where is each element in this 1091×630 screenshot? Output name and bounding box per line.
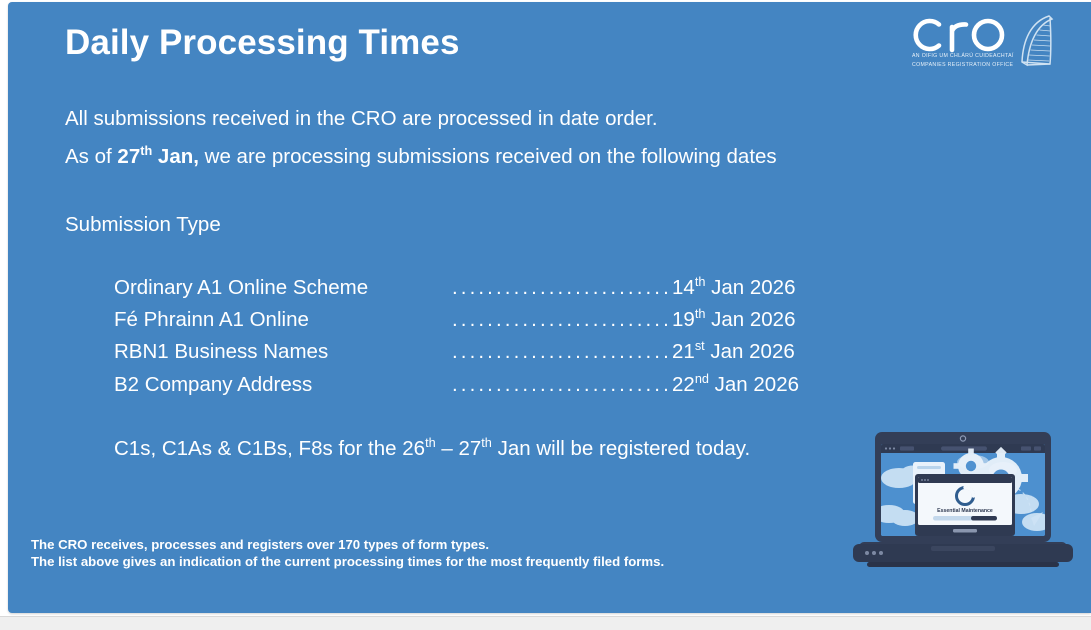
row-leader-dots: ...................................	[452, 373, 672, 397]
svg-text:Essential Maintenance: Essential Maintenance	[937, 508, 993, 514]
laptop-icon: Essential Maintenance	[853, 426, 1073, 574]
harp-icon	[1017, 12, 1059, 70]
bottom-strip	[0, 616, 1091, 630]
row-leader-dots: ...................................	[452, 308, 672, 332]
row-date-rest: Jan 2026	[705, 340, 795, 363]
registered-today-note: C1s, C1As & C1Bs, F8s for the 26th – 27t…	[114, 437, 750, 461]
row-leader-dots: ...................................	[452, 340, 672, 364]
note-to-ordinal: th	[481, 435, 492, 450]
laptop-maintenance-illustration: Essential Maintenance	[853, 426, 1073, 574]
row-date-day: 14	[672, 276, 695, 299]
row-date-ordinal: nd	[695, 371, 709, 386]
row-submission-type: RBN1 Business Names	[114, 340, 452, 364]
note-dash: –	[436, 437, 459, 460]
row-date-rest: Jan 2026	[709, 373, 799, 396]
row-date: 19th Jan 2026	[672, 308, 795, 332]
note-to-day: 27	[458, 437, 481, 460]
footer-line-2: The list above gives an indication of th…	[31, 554, 664, 571]
table-row: Ordinary A1 Online Scheme ..............…	[114, 276, 904, 308]
row-date-ordinal: th	[695, 306, 706, 321]
intro-line-2: As of 27th Jan, we are processing submis…	[65, 138, 777, 176]
logo-subtitle-english: COMPANIES REGISTRATION OFFICE	[912, 61, 1022, 70]
intro-asof-month: Jan,	[152, 145, 199, 168]
row-date-ordinal: th	[695, 274, 706, 289]
note-from-day: 26	[402, 437, 425, 460]
row-date-day: 19	[672, 308, 695, 331]
intro-asof-date: 27th Jan,	[117, 145, 199, 168]
submission-type-heading: Submission Type	[65, 213, 221, 237]
note-from-ordinal: th	[425, 435, 436, 450]
intro-block: All submissions received in the CRO are …	[65, 100, 777, 176]
page-title: Daily Processing Times	[65, 23, 460, 63]
footer-line-1: The CRO receives, processes and register…	[31, 537, 664, 554]
slide-panel: Daily Processing Times	[8, 2, 1091, 613]
footer-note: The CRO receives, processes and register…	[31, 537, 664, 570]
row-date-day: 22	[672, 373, 695, 396]
logo-subtitle-irish: AN OIFIG UM CHLÁRÚ CUIDEACHTAÍ	[912, 52, 1022, 61]
intro-line-1: All submissions received in the CRO are …	[65, 100, 777, 138]
note-suffix: Jan will be registered today.	[492, 437, 750, 460]
row-date: 21st Jan 2026	[672, 340, 795, 364]
row-date: 22nd Jan 2026	[672, 373, 799, 397]
table-row: B2 Company Address .....................…	[114, 373, 904, 405]
intro-suffix: we are processing submissions received o…	[199, 145, 777, 168]
row-date: 14th Jan 2026	[672, 276, 795, 300]
row-submission-type: B2 Company Address	[114, 373, 452, 397]
cro-logo: AN OIFIG UM CHLÁRÚ CUIDEACHTAÍ COMPANIES…	[909, 12, 1059, 74]
page-root: Daily Processing Times	[0, 0, 1091, 629]
row-date-ordinal: st	[695, 339, 705, 354]
intro-prefix: As of	[65, 145, 117, 168]
table-row: Fé Phrainn A1 Online ...................…	[114, 308, 904, 340]
row-date-rest: Jan 2026	[705, 308, 795, 331]
intro-asof-day: 27	[117, 145, 140, 168]
row-leader-dots: ...................................	[452, 276, 672, 300]
note-prefix: C1s, C1As & C1Bs, F8s for the	[114, 437, 402, 460]
processing-times-table: Ordinary A1 Online Scheme ..............…	[114, 276, 904, 405]
row-submission-type: Ordinary A1 Online Scheme	[114, 276, 452, 300]
table-row: RBN1 Business Names ....................…	[114, 340, 904, 372]
logo-subtitle: AN OIFIG UM CHLÁRÚ CUIDEACHTAÍ COMPANIES…	[912, 52, 1022, 69]
row-date-rest: Jan 2026	[705, 276, 795, 299]
row-submission-type: Fé Phrainn A1 Online	[114, 308, 452, 332]
row-date-day: 21	[672, 340, 695, 363]
cro-wordmark-icon	[909, 12, 1013, 54]
intro-asof-ordinal: th	[140, 143, 152, 158]
